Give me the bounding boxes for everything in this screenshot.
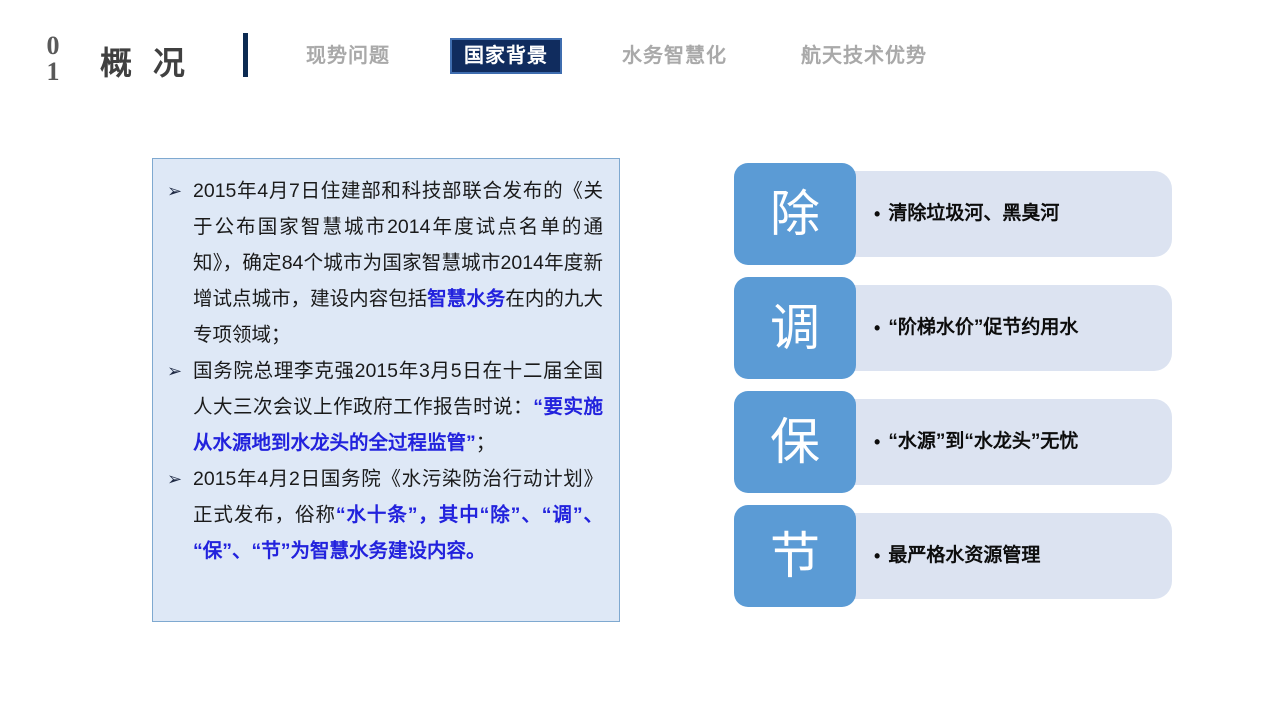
keyword-card-text: •清除垃圾河、黑臭河 (874, 163, 1164, 265)
slide-number-top: 0 (36, 33, 70, 59)
bullet-arrow-icon: ➢ (163, 353, 193, 389)
bullet-arrow-icon: ➢ (163, 173, 193, 209)
keyword-card-badge: 保 (734, 391, 856, 493)
tab-guojiabeijing[interactable]: 国家背景 (450, 38, 562, 74)
slide-number: 0 1 (36, 33, 70, 85)
keyword-card[interactable]: 除•清除垃圾河、黑臭河 (734, 163, 1172, 265)
keyword-card-badge: 节 (734, 505, 856, 607)
slide-header: 0 1 概 况 现势问题 国家背景 水务智慧化 航天技术优势 (0, 0, 1280, 120)
page-title: 概 况 (100, 38, 191, 84)
keyword-card-text: •“水源”到“水龙头”无忧 (874, 391, 1164, 493)
keyword-card-label: “水源”到“水龙头”无忧 (888, 429, 1078, 455)
highlighted-text: 智慧水务 (427, 288, 505, 310)
keyword-card-label: “阶梯水价”促节约用水 (888, 315, 1078, 341)
policy-bullet-text: 2015年4月7日住建部和科技部联合发布的《关于公布国家智慧城市2014年度试点… (193, 173, 603, 353)
plain-text: ； (476, 432, 496, 454)
policy-bullet-text: 国务院总理李克强2015年3月5日在十二届全国人大三次会议上作政府工作报告时说：… (193, 353, 603, 461)
keyword-card-badge: 除 (734, 163, 856, 265)
tab-hangtianjishuyoushi[interactable]: 航天技术优势 (787, 38, 941, 74)
bullet-dot-icon: • (874, 433, 880, 451)
bullet-dot-icon: • (874, 547, 880, 565)
policy-bullet-item: ➢2015年4月7日住建部和科技部联合发布的《关于公布国家智慧城市2014年度试… (163, 173, 603, 353)
keyword-card-list: 除•清除垃圾河、黑臭河调•“阶梯水价”促节约用水保•“水源”到“水龙头”无忧节•… (734, 163, 1172, 621)
bullet-dot-icon: • (874, 205, 880, 223)
tab-xianshiwenti[interactable]: 现势问题 (292, 38, 404, 74)
slide-number-bottom: 1 (36, 59, 70, 85)
policy-bullet-item: ➢2015年4月2日国务院《水污染防治行动计划》正式发布，俗称“水十条”，其中“… (163, 461, 603, 569)
keyword-card[interactable]: 节•最严格水资源管理 (734, 505, 1172, 607)
keyword-card[interactable]: 保•“水源”到“水龙头”无忧 (734, 391, 1172, 493)
title-divider (243, 33, 248, 77)
keyword-card[interactable]: 调•“阶梯水价”促节约用水 (734, 277, 1172, 379)
bullet-arrow-icon: ➢ (163, 461, 193, 497)
policy-bullet-item: ➢国务院总理李克强2015年3月5日在十二届全国人大三次会议上作政府工作报告时说… (163, 353, 603, 461)
tab-bar: 现势问题 国家背景 水务智慧化 航天技术优势 (292, 38, 941, 74)
policy-bullet-text: 2015年4月2日国务院《水污染防治行动计划》正式发布，俗称“水十条”，其中“除… (193, 461, 603, 569)
tab-shuiwuzhihuihua[interactable]: 水务智慧化 (608, 38, 741, 74)
bullet-dot-icon: • (874, 319, 880, 337)
keyword-card-text: •“阶梯水价”促节约用水 (874, 277, 1164, 379)
keyword-card-badge: 调 (734, 277, 856, 379)
keyword-card-label: 清除垃圾河、黑臭河 (888, 201, 1059, 227)
keyword-card-label: 最严格水资源管理 (888, 543, 1040, 569)
policy-text-panel: ➢2015年4月7日住建部和科技部联合发布的《关于公布国家智慧城市2014年度试… (152, 158, 620, 622)
keyword-card-text: •最严格水资源管理 (874, 505, 1164, 607)
